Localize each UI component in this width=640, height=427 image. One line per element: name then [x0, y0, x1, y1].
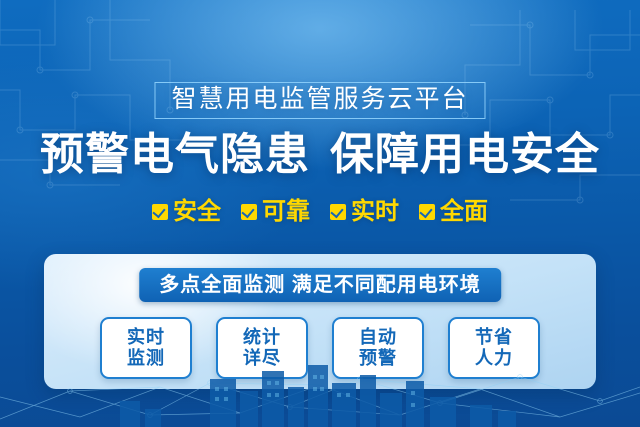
keyword-label: 安全 [173, 200, 221, 224]
check-icon [419, 204, 435, 220]
feature-card-line2: 人力 [475, 348, 513, 369]
feature-card-line2: 详尽 [243, 348, 281, 369]
feature-card-line1: 统计 [243, 327, 281, 348]
headline-right: 保障用电安全 [330, 130, 600, 179]
poster-root: 智慧用电监管服务云平台 预警电气隐患保障用电安全 安全 可靠 实时 全面 多点全… [0, 0, 640, 427]
feature-card[interactable]: 自动 预警 [332, 317, 424, 379]
feature-card[interactable]: 实时 监测 [100, 317, 192, 379]
feature-card[interactable]: 统计 详尽 [216, 317, 308, 379]
keyword-label: 全面 [440, 200, 488, 224]
keyword-item: 可靠 [241, 200, 310, 224]
keyword-item: 安全 [152, 200, 221, 224]
check-icon [330, 204, 346, 220]
feature-card-line2: 监测 [127, 348, 165, 369]
headline-left: 预警电气隐患 [40, 130, 310, 179]
feature-card[interactable]: 节省 人力 [448, 317, 540, 379]
feature-card-list: 实时 监测 统计 详尽 自动 预警 节省 人力 [44, 317, 596, 379]
feature-card-line1: 节省 [475, 327, 513, 348]
feature-card-line1: 实时 [127, 327, 165, 348]
feature-panel: 多点全面监测 满足不同配用电环境 实时 监测 统计 详尽 自动 预警 节省 人力 [44, 254, 596, 389]
feature-card-line1: 自动 [359, 327, 397, 348]
keyword-label: 实时 [351, 200, 399, 224]
panel-banner: 多点全面监测 满足不同配用电环境 [139, 268, 501, 302]
subtitle-text: 智慧用电监管服务云平台 [171, 87, 468, 112]
keyword-list: 安全 可靠 实时 全面 [0, 200, 640, 224]
check-icon [241, 204, 257, 220]
keyword-label: 可靠 [262, 200, 310, 224]
page-title: 预警电气隐患保障用电安全 [0, 133, 640, 177]
keyword-item: 实时 [330, 200, 399, 224]
feature-card-line2: 预警 [359, 348, 397, 369]
check-icon [152, 204, 168, 220]
panel-banner-text: 多点全面监测 满足不同配用电环境 [159, 275, 481, 295]
keyword-item: 全面 [419, 200, 488, 224]
subtitle-frame: 智慧用电监管服务云平台 [154, 82, 485, 119]
